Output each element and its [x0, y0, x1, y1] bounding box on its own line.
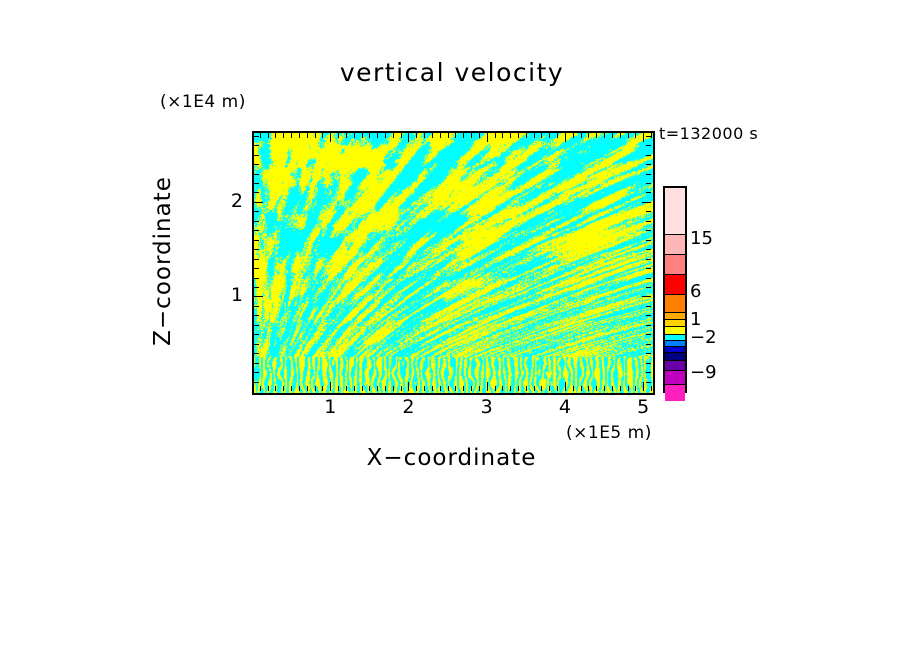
colorbar-band [665, 255, 685, 275]
time-annotation: t=132000 s [659, 124, 758, 143]
colorbar-band [665, 313, 685, 320]
x-tick-label: 3 [475, 396, 499, 418]
plot-area [252, 131, 655, 395]
colorbar [663, 186, 687, 393]
x-axis-title: X−coordinate [252, 445, 651, 471]
y-tick-label: 2 [225, 190, 243, 212]
y-axis-units-label: (×1E4 m) [160, 92, 246, 112]
colorbar-band [665, 295, 685, 313]
x-tick-label: 1 [318, 396, 342, 418]
x-axis-units-label: (×1E5 m) [566, 423, 652, 443]
vertical-velocity-field [254, 133, 653, 393]
colorbar-tick-label: −9 [690, 362, 717, 383]
x-tick-label: 5 [631, 396, 655, 418]
colorbar-tick-label: 6 [690, 281, 701, 302]
colorbar-band [665, 327, 685, 335]
colorbar-band [665, 188, 685, 235]
y-axis-title: Z−coordinate [150, 140, 180, 382]
x-tick-label: 2 [396, 396, 420, 418]
y-tick-label: 1 [225, 284, 243, 306]
colorbar-tick-label: −2 [690, 327, 717, 348]
colorbar-band [665, 320, 685, 327]
colorbar-band [665, 353, 685, 361]
colorbar-tick-label: 15 [690, 228, 713, 249]
page-title: vertical velocity [252, 58, 652, 87]
colorbar-band [665, 275, 685, 295]
colorbar-band [665, 361, 685, 371]
colorbar-band [665, 235, 685, 255]
x-tick-label: 4 [553, 396, 577, 418]
colorbar-band [665, 385, 685, 401]
colorbar-band [665, 371, 685, 385]
figure-canvas: vertical velocity (×1E4 m) t=132000 s 12… [0, 0, 904, 654]
